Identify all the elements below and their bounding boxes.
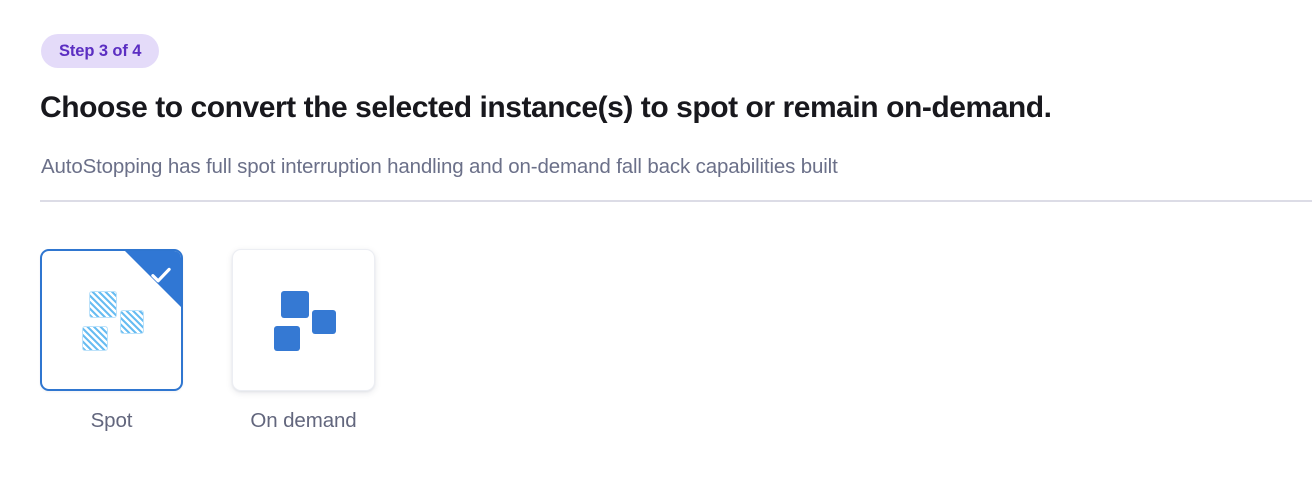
square-bottom-left (82, 326, 108, 351)
section-divider (40, 200, 1312, 202)
spot-option-label: Spot (40, 405, 183, 436)
option-on-demand[interactable]: On demand (232, 249, 375, 436)
step-badge: Step 3 of 4 (41, 34, 159, 68)
three-squares-solid-icon (273, 291, 335, 349)
check-icon (148, 262, 174, 288)
page-title: Choose to convert the selected instance(… (40, 88, 1052, 128)
square-top-left (89, 291, 117, 318)
spot-option-card[interactable] (40, 249, 183, 391)
spot-or-ondemand-step-page: Step 3 of 4 Choose to convert the select… (0, 0, 1312, 484)
square-top-left (281, 291, 309, 318)
three-squares-hatched-icon (81, 291, 143, 349)
page-subtitle: AutoStopping has full spot interruption … (41, 152, 838, 182)
square-middle-right (120, 310, 144, 334)
on-demand-option-card[interactable] (232, 249, 375, 391)
on-demand-option-label: On demand (232, 405, 375, 436)
instance-type-options: Spot On demand (40, 249, 375, 436)
square-middle-right (312, 310, 336, 334)
option-spot[interactable]: Spot (40, 249, 183, 436)
square-bottom-left (274, 326, 300, 351)
